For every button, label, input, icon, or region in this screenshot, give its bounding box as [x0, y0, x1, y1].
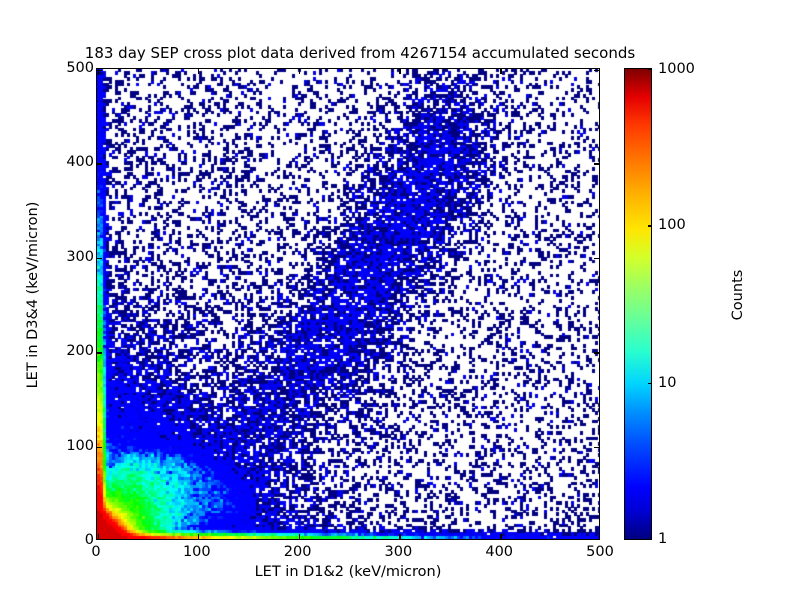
x-tick-label-4: 400	[485, 544, 513, 560]
x-tick-top-5	[600, 69, 601, 74]
plot-title-line-1: 183 day SEP cross plot data derived from…	[0, 44, 720, 63]
x-axis-label: LET in D1&2 (keV/micron)	[96, 564, 600, 580]
colorbar-container	[624, 68, 652, 540]
x-tick-3	[399, 534, 401, 539]
x-tick-1	[198, 534, 200, 539]
x-tick-label-5: 500	[586, 544, 614, 560]
y-tick-right-3	[594, 258, 599, 260]
y-tick-2	[97, 352, 102, 354]
plot-axes	[96, 68, 600, 540]
colorbar-tick-label-3: 1000	[658, 61, 695, 77]
x-tick-label-3: 300	[385, 544, 413, 560]
x-tick-top-2	[299, 69, 301, 74]
colorbar-tick-3	[648, 69, 652, 71]
y-tick-right-4	[594, 163, 599, 165]
y-tick-label-0: 0	[85, 532, 94, 548]
x-tick-4	[500, 534, 502, 539]
y-tick-label-2: 200	[66, 343, 94, 359]
colorbar-tick-1	[648, 383, 652, 385]
x-tick-top-3	[399, 69, 401, 74]
y-tick-3	[97, 258, 102, 260]
x-tick-label-2: 200	[284, 544, 312, 560]
colorbar-tick-2	[648, 225, 652, 227]
y-tick-right-5	[594, 70, 599, 72]
y-tick-5	[97, 70, 102, 72]
y-tick-right-1	[594, 447, 599, 449]
y-tick-right-0	[594, 540, 599, 541]
colorbar-label: Counts	[730, 205, 746, 385]
x-tick-5	[600, 534, 601, 539]
y-axis-label: LET in D3&4 (keV/micron)	[25, 190, 41, 400]
y-tick-label-3: 300	[66, 249, 94, 265]
figure-canvas: 183 day SEP cross plot data derived from…	[0, 0, 800, 600]
colorbar-gradient	[624, 68, 652, 540]
x-tick-label-1: 100	[183, 544, 211, 560]
colorbar-tick-label-1: 10	[658, 375, 676, 391]
x-tick-top-4	[500, 69, 502, 74]
y-tick-4	[97, 163, 102, 165]
y-tick-label-4: 400	[66, 154, 94, 170]
y-tick-right-2	[594, 352, 599, 354]
colorbar-tick-0	[648, 539, 652, 541]
y-tick-0	[97, 540, 102, 541]
x-tick-2	[299, 534, 301, 539]
y-tick-label-1: 100	[66, 438, 94, 454]
colorbar-tick-label-0: 1	[658, 531, 667, 547]
colorbar-tick-label-2: 100	[658, 217, 686, 233]
scatter-heatmap	[97, 69, 600, 540]
x-tick-top-1	[198, 69, 200, 74]
y-tick-1	[97, 447, 102, 449]
y-tick-label-5: 500	[66, 60, 94, 76]
x-tick-0	[98, 534, 100, 539]
